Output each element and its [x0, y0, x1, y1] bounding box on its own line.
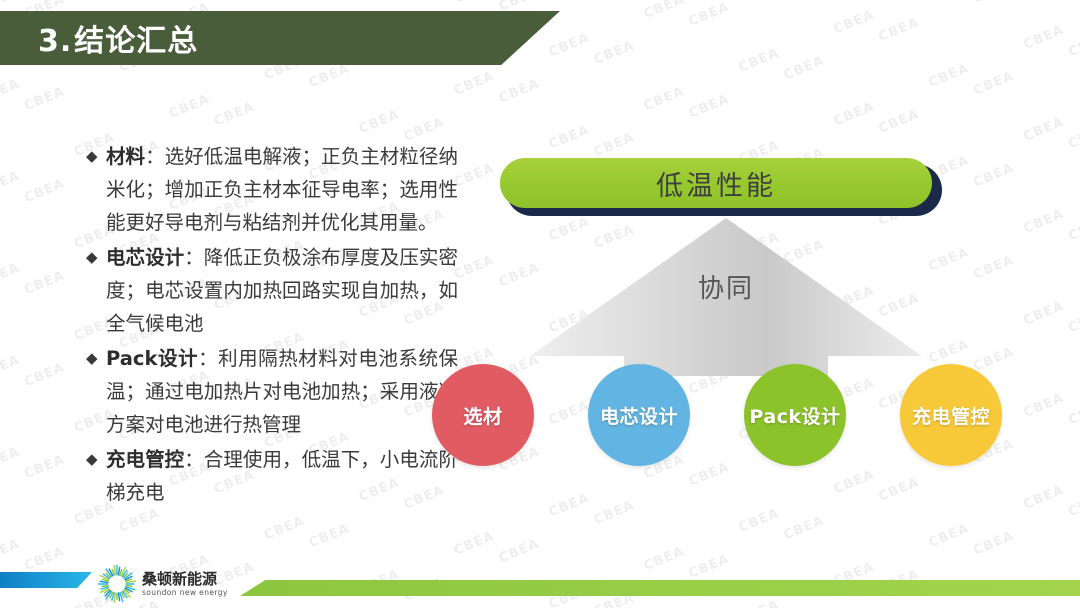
- list-item-colon: ：: [184, 246, 204, 269]
- factor-circle-label: 选材: [463, 402, 502, 429]
- title-banner: 3.结论汇总: [0, 11, 560, 65]
- title-number: 3.: [38, 24, 72, 59]
- title-label: 结论汇总: [74, 24, 198, 59]
- slide-root: CBEACBEACBEACBEACBEACBEACBEACBEACBEACBEA…: [0, 0, 1080, 608]
- list-item-term: Pack设计: [106, 347, 198, 370]
- list-item-term: 电芯设计: [106, 246, 184, 269]
- list-item: ◆ 电芯设计：降低正负极涂布厚度及压实密度；电芯设置内加热回路实现自加热，如全气…: [86, 241, 458, 340]
- factor-circle-charge-control: 充电管控: [900, 364, 1002, 466]
- diamond-bullet-icon: ◆: [86, 140, 106, 173]
- factor-circle-label: 充电管控: [912, 402, 990, 429]
- footer-blue-bar: [0, 572, 92, 588]
- list-item-body: Pack设计：利用隔热材料对电池系统保温；通过电加热片对电池加热；采用液冷方案对…: [106, 342, 458, 441]
- logo-text-block: 桑顿新能源 soundon new energy: [142, 572, 228, 597]
- logo-name-en: soundon new energy: [142, 589, 228, 597]
- slide-footer: 桑顿新能源 soundon new energy: [0, 560, 1080, 608]
- banner-label: 低温性能: [656, 164, 776, 203]
- list-item-body: 充电管控：合理使用，低温下，小电流阶梯充电: [106, 443, 458, 509]
- sunburst-logo-icon: [96, 563, 138, 605]
- list-item-body: 电芯设计：降低正负极涂布厚度及压实密度；电芯设置内加热回路实现自加热，如全气候电…: [106, 241, 458, 340]
- list-item-colon: ：: [145, 145, 165, 168]
- list-item-body: 材料：选好低温电解液；正负主材粒径纳米化；增加正负主材本征导电率；选用性能更好导…: [106, 140, 458, 239]
- footer-green-bar: [240, 580, 1080, 596]
- factor-circle-material: 选材: [432, 364, 534, 466]
- list-item: ◆ Pack设计：利用隔热材料对电池系统保温；通过电加热片对电池加热；采用液冷方…: [86, 342, 458, 441]
- banner-pill: 低温性能: [500, 158, 932, 208]
- company-logo: 桑顿新能源 soundon new energy: [96, 562, 238, 606]
- low-temperature-performance-banner: 低温性能: [500, 158, 942, 216]
- conclusion-bullet-list: ◆ 材料：选好低温电解液；正负主材粒径纳米化；增加正负主材本征导电率；选用性能更…: [86, 140, 458, 511]
- factor-circle-pack-design: Pack设计: [744, 364, 846, 466]
- diamond-bullet-icon: ◆: [86, 342, 106, 375]
- diamond-bullet-icon: ◆: [86, 443, 106, 476]
- list-item-colon: ：: [184, 448, 204, 471]
- synergy-up-arrow-icon: 协同: [528, 216, 924, 376]
- list-item: ◆ 充电管控：合理使用，低温下，小电流阶梯充电: [86, 443, 458, 509]
- factor-circle-label: Pack设计: [749, 402, 840, 429]
- list-item-term: 材料: [106, 145, 145, 168]
- arrow-label: 协同: [528, 268, 924, 305]
- list-item-term: 充电管控: [106, 448, 184, 471]
- list-item-colon: ：: [198, 347, 218, 370]
- factor-circle-row: 选材 电芯设计 Pack设计 充电管控: [432, 364, 1040, 468]
- factor-circle-cell-design: 电芯设计: [588, 364, 690, 466]
- diamond-bullet-icon: ◆: [86, 241, 106, 274]
- logo-name-cn: 桑顿新能源: [142, 572, 228, 587]
- factor-circle-label: 电芯设计: [600, 402, 678, 429]
- page-title: 3.结论汇总: [38, 16, 198, 60]
- list-item: ◆ 材料：选好低温电解液；正负主材粒径纳米化；增加正负主材本征导电率；选用性能更…: [86, 140, 458, 239]
